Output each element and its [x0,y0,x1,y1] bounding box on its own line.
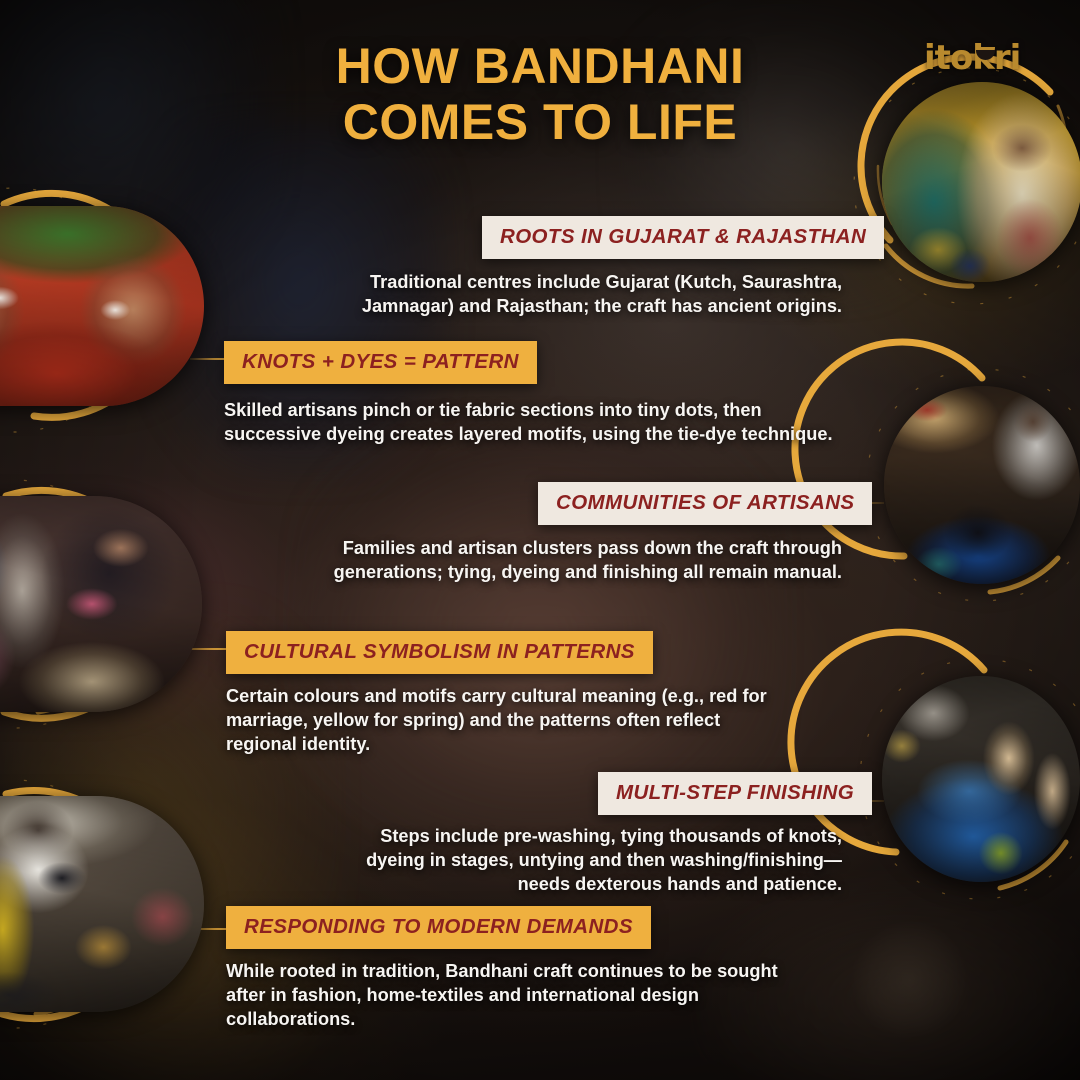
photo-artisan-yellow-fabric [0,796,204,1012]
section-body-2: Skilled artisans pinch or tie fabric sec… [224,398,836,446]
section-body-6: While rooted in tradition, Bandhani craf… [226,959,778,1032]
section-body-1: Traditional centres include Gujarat (Kut… [290,270,842,318]
section-body-4: Certain colours and motifs carry cultura… [226,684,786,757]
section-label-1: ROOTS IN GUJARAT & RAJASTHAN [482,216,884,259]
photo-women-untying-fabric [0,496,202,712]
section-label-4: CULTURAL SYMBOLISM IN PATTERNS [226,631,653,674]
section-label-2: KNOTS + DYES = PATTERN [224,341,537,384]
section-label-5: MULTI-STEP FINISHING [598,772,872,815]
photo-hands-tying-red-fabric [0,206,204,406]
infographic-canvas: HOW BANDHANI COMES TO LIFE itokri ROOTS … [0,0,1080,1080]
brand-logo[interactable]: itokri [924,38,1044,82]
page-title-line-2: COMES TO LIFE [0,94,1080,150]
section-label-6: RESPONDING TO MODERN DEMANDS [226,906,651,949]
section-body-5: Steps include pre-washing, tying thousan… [320,824,842,897]
photo-dyer-indigo-tub [884,386,1080,584]
photo-indigo-vat-dipping [882,676,1080,882]
page-title-line-1: HOW BANDHANI [0,38,1080,94]
page-title: HOW BANDHANI COMES TO LIFE [0,38,1080,150]
section-label-3: COMMUNITIES OF ARTISANS [538,482,872,525]
section-body-3: Families and artisan clusters pass down … [250,536,842,584]
